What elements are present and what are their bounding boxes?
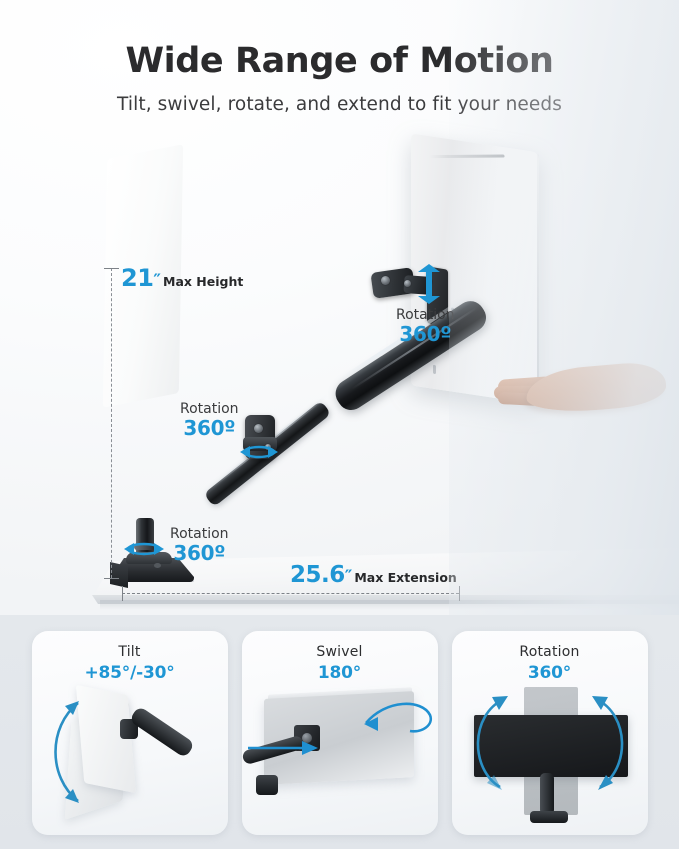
max-extension-unit: ″ (345, 567, 353, 587)
rotation-base (530, 811, 568, 823)
rotation-arrow-icon (122, 540, 166, 558)
clamp-jaw (110, 562, 128, 588)
callout-rotation-mid: Rotation 360º (180, 402, 239, 440)
callout-label: Rotation (170, 527, 229, 542)
swivel-arc-arrow-icon (360, 693, 436, 739)
callout-label: Rotation (396, 308, 455, 323)
rotation-illustration (452, 687, 648, 835)
monitor-indicator-dot (451, 307, 454, 310)
extension-measure-cap-right (459, 586, 460, 601)
rotation-arc-arrow-right-icon (588, 687, 646, 799)
product-infographic: Wide Range of Motion Tilt, swivel, rotat… (0, 0, 679, 849)
max-height-value: 21 (121, 264, 153, 292)
feature-card-value: 360° (452, 663, 648, 683)
feature-card-title: Swivel (242, 644, 438, 660)
feature-card-tilt: Tilt +85°/-30° (32, 631, 228, 835)
screw-icon (254, 424, 263, 433)
tilt-illustration (32, 687, 228, 835)
max-height-label: 21 ″ Max Height (121, 264, 243, 292)
callout-label: Rotation (180, 402, 239, 417)
feature-card-value: 180° (242, 663, 438, 683)
max-extension-label: 25.6 ″ Max Extension (290, 562, 457, 588)
height-measure-cap-top (104, 268, 119, 269)
clamp-screw-icon (154, 563, 161, 568)
monitor-arm-assembly (0, 0, 679, 615)
monitor-tilted-up (75, 685, 135, 793)
rotation-arrow-icon (412, 262, 446, 306)
callout-value: 360º (170, 542, 229, 565)
feature-card-title: Rotation (452, 644, 648, 660)
hero-section: Wide Range of Motion Tilt, swivel, rotat… (0, 0, 679, 615)
rotation-arm (540, 773, 554, 815)
max-height-caption: Max Height (163, 274, 243, 289)
screw-icon (404, 280, 411, 287)
extension-measure-line (122, 593, 459, 594)
max-extension-caption: Max Extension (354, 570, 456, 585)
callout-rotation-head: Rotation 360º (396, 308, 455, 346)
screw-icon (381, 276, 390, 285)
swivel-base (256, 775, 278, 795)
feature-card-title: Tilt (32, 644, 228, 660)
callout-value: 360º (396, 323, 455, 346)
tilt-arm (128, 706, 194, 759)
max-height-unit: ″ (153, 271, 161, 291)
hand-finger (498, 392, 541, 406)
callout-rotation-base: Rotation 360º (170, 527, 229, 565)
swivel-straight-arrow-icon (248, 739, 320, 757)
hand-finger (498, 376, 553, 395)
swivel-illustration (242, 687, 438, 835)
max-extension-value: 25.6 (290, 562, 345, 588)
hand (492, 362, 664, 414)
feature-cards-section: Tilt +85°/-30° Swivel 180° (0, 615, 679, 849)
monitor-seam (537, 154, 539, 402)
tilt-arc-arrow-icon (38, 693, 84, 811)
height-measure-line (111, 268, 112, 578)
rotation-arrow-icon (238, 443, 280, 461)
feature-card-value: +85°/-30° (32, 663, 228, 683)
rotation-arc-arrow-left-icon (454, 687, 512, 799)
feature-card-swivel: Swivel 180° (242, 631, 438, 835)
hand-finger (494, 386, 542, 400)
callout-value: 360º (180, 417, 239, 440)
hand-palm (524, 360, 667, 416)
height-measure-cap-bottom (104, 578, 119, 579)
extension-measure-cap-left (122, 586, 123, 601)
feature-card-rotation: Rotation 360° (452, 631, 648, 835)
